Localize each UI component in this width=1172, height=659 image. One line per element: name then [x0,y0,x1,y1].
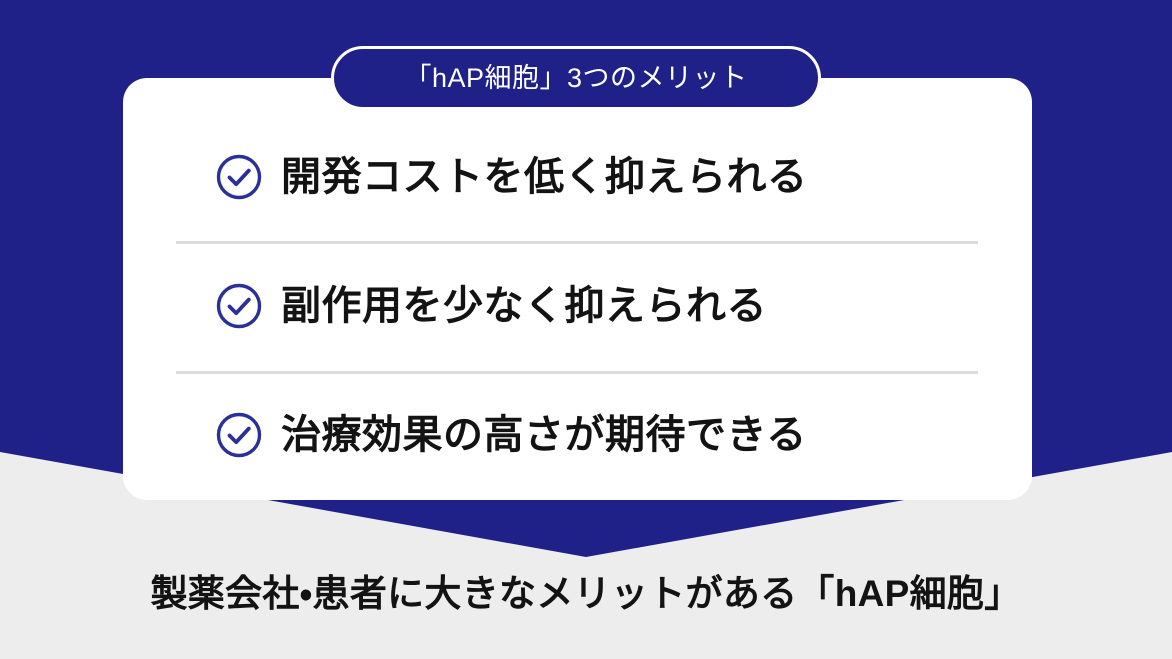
list-item: 開発コストを低く抑えられる [123,112,1032,241]
list-item: 副作用を少なく抑えられる [123,241,1032,370]
list-item-label: 副作用を少なく抑えられる [281,284,767,328]
list-item-label: 開発コストを低く抑えられる [281,155,808,199]
check-circle-icon [215,282,263,330]
list-item: 治療効果の高さが期待できる [123,371,1032,500]
summary-caption: 製薬会社・患者に大きなメリットがある「hAP細胞」 [0,574,1172,615]
check-circle-icon [215,153,263,201]
benefits-list: 開発コストを低く抑えられる 副作用を少なく抑えられる 治療効果の高さが期待できる [123,112,1032,500]
check-circle-icon [215,411,263,459]
title-pill-badge: 「hAP細胞」3つのメリット [331,46,821,110]
infographic-stage: 「hAP細胞」3つのメリット 開発コストを低く抑えられる 副作用を少なく抑えられ… [0,0,1172,659]
title-pill-label: 「hAP細胞」3つのメリット [404,65,747,92]
list-item-label: 治療効果の高さが期待できる [281,413,807,457]
